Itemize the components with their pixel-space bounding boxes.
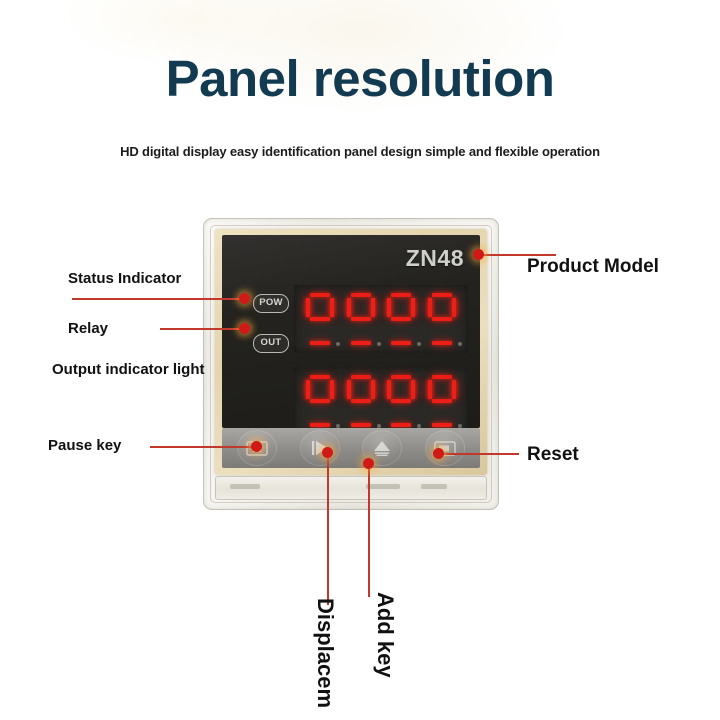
callout-displacement-label: Displacem [312, 598, 338, 708]
callout-product-model-leader [481, 254, 556, 256]
seven-segment-digit [427, 375, 457, 427]
displacement-key[interactable] [300, 430, 340, 466]
reset-key[interactable] [425, 430, 465, 466]
callout-relay-label: Relay [68, 320, 108, 337]
power-indicator-label: POW [253, 294, 289, 313]
callout-status-indicator-label: Status Indicator [68, 270, 181, 287]
callout-displacement-dot [322, 447, 333, 458]
callout-relay-dot [239, 323, 250, 334]
lower-display-digits [294, 367, 468, 428]
callout-add-key-label: Add key [372, 592, 398, 678]
device-panel-meter: ZN48 POW OUT [203, 218, 499, 510]
seven-segment-digit [346, 293, 376, 345]
callout-product-model-label: Product Model [527, 256, 659, 278]
model-name-text: ZN48 [406, 245, 464, 272]
output-indicator-label: OUT [253, 334, 289, 353]
callout-add-key-leader [368, 466, 370, 597]
callout-status-indicator-dot [239, 293, 250, 304]
callout-displacement-leader [327, 455, 329, 605]
device-faceplate: ZN48 POW OUT [222, 235, 480, 428]
seven-segment-digit [305, 293, 335, 345]
seven-segment-digit [386, 293, 416, 345]
callout-reset-leader [441, 453, 519, 455]
page-title: Panel resolution [0, 52, 720, 106]
callout-add-key-dot [363, 458, 374, 469]
seven-segment-digit [305, 375, 335, 427]
seven-segment-digit [427, 293, 457, 345]
callout-output-indicator-light-label: Output indicator light [52, 361, 204, 378]
callout-pause-key-dot [251, 441, 262, 452]
page-subtitle: HD digital display easy identification p… [0, 144, 720, 159]
infographic-canvas: Panel resolution HD digital display easy… [0, 0, 720, 720]
up-triangle-icon [372, 439, 392, 457]
upper-display-window [294, 285, 468, 353]
seven-segment-digit [386, 375, 416, 427]
callout-pause-key-label: Pause key [48, 437, 121, 454]
callout-relay-leader [160, 328, 244, 330]
upper-display-digits [294, 285, 468, 353]
callout-reset-label: Reset [527, 444, 579, 466]
seven-segment-digit [346, 375, 376, 427]
callout-pause-key-leader [150, 446, 256, 448]
callout-status-indicator-leader [72, 298, 244, 300]
device-bottom-lip [215, 476, 487, 500]
indicator-row-output: OUT [237, 330, 293, 370]
callout-reset-dot [433, 448, 444, 459]
callout-product-model-dot [473, 249, 484, 260]
lower-display-window [294, 367, 468, 428]
